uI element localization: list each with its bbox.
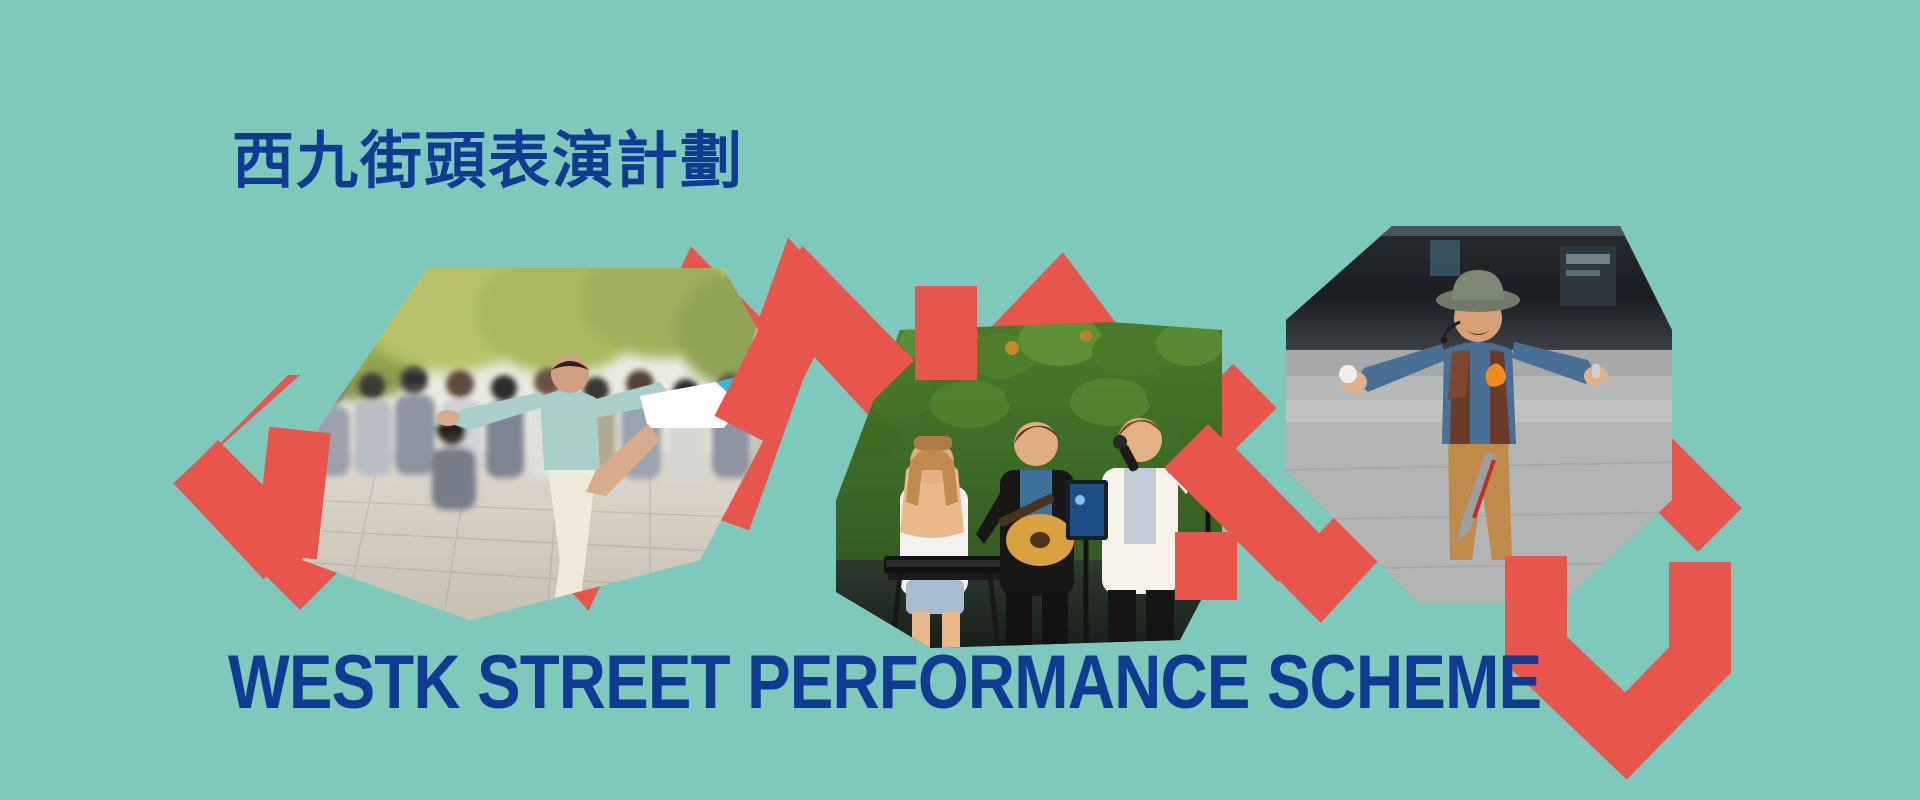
page-title-chinese: 西九街頭表演計劃 [232, 130, 744, 192]
street-performance-banner: 西九街頭表演計劃 WESTK STREET PERFORMANCE SCHEME [0, 0, 1920, 800]
typography-layer: 西九街頭表演計劃 WESTK STREET PERFORMANCE SCHEME [0, 0, 1920, 800]
page-title-english: WESTK STREET PERFORMANCE SCHEME [228, 645, 1541, 721]
